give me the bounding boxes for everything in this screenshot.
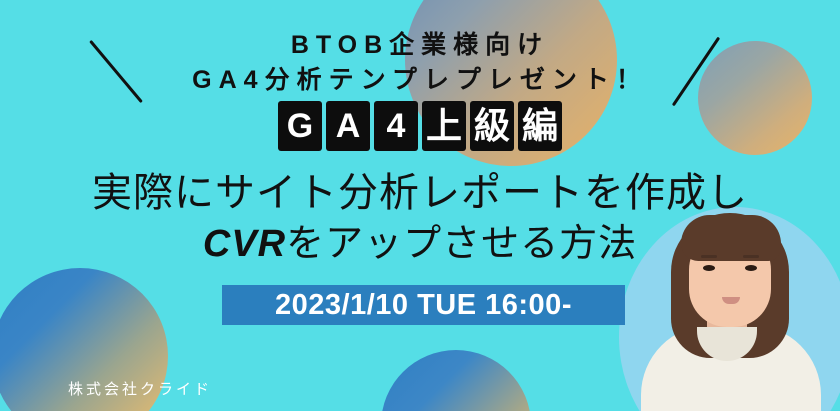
headline-rest: をアップさせる方法 — [286, 223, 637, 265]
title-tile: 上 — [422, 101, 466, 151]
date-text: 2023/1/10 TUE 16:00- — [275, 289, 572, 322]
kicker-line-1: BTOB企業様向け — [0, 25, 840, 61]
decor-circle-bottom-center — [381, 350, 531, 411]
title-tile: 4 — [374, 101, 418, 151]
date-banner: 2023/1/10 TUE 16:00- — [222, 285, 625, 325]
title-tile: G — [278, 101, 322, 151]
presenter-photo — [619, 207, 840, 411]
title-tile: 級 — [470, 101, 514, 151]
presenter-eye-right — [745, 265, 757, 271]
title-tile-row: G A 4 上 級 編 — [0, 101, 840, 151]
presenter-eyebrow-right — [743, 255, 759, 258]
presenter-eye-left — [703, 265, 715, 271]
webinar-promo-banner: BTOB企業様向け GA4分析テンプレプレゼント！ G A 4 上 級 編 実際… — [0, 0, 840, 411]
presenter-eyebrow-left — [701, 255, 717, 258]
company-logo-text: 株式会社クライド — [68, 378, 212, 399]
kicker-line-2: GA4分析テンプレプレゼント！ — [0, 60, 840, 96]
title-tile: 編 — [518, 101, 562, 151]
title-tile: A — [326, 101, 370, 151]
headline-emphasis: CVR — [203, 223, 286, 265]
presenter-fringe — [681, 215, 781, 261]
